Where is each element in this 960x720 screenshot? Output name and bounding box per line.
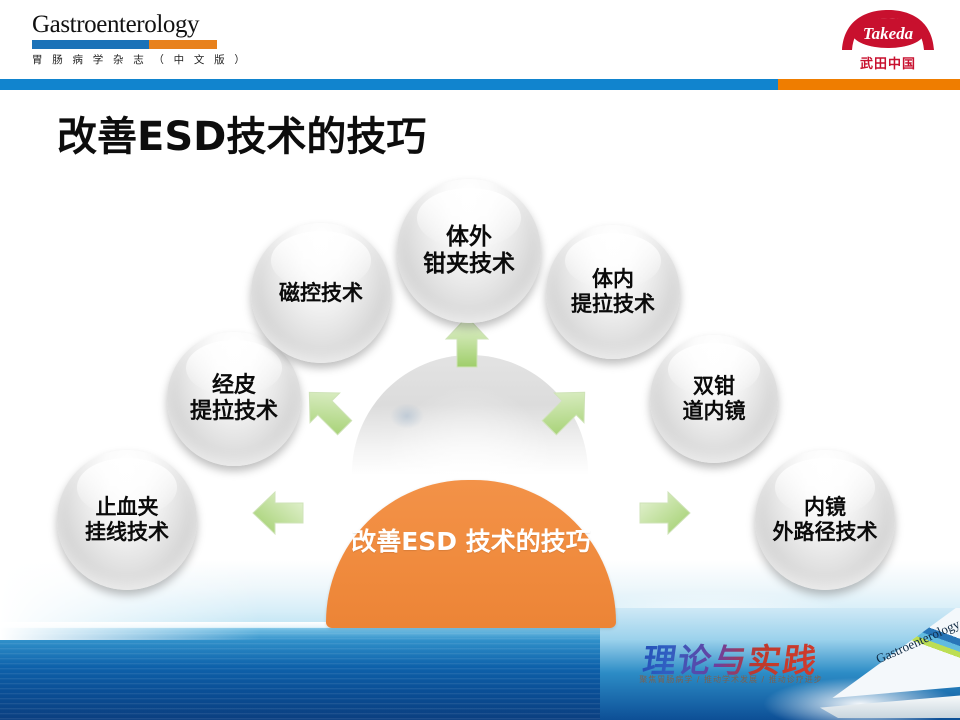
node-ti-wai[interactable]: 体外 钳夹技术 bbox=[397, 179, 541, 323]
footer-banner: Gastroenterology 理论与实践 聚焦胃肠病学 / 推动学术发展 /… bbox=[600, 608, 960, 720]
svg-text:Takeda: Takeda bbox=[863, 24, 914, 43]
node-label: 内镜 外路径技术 bbox=[773, 495, 878, 545]
page-title: 改善ESD技术的技巧 bbox=[57, 104, 426, 162]
banner-tagline: 聚焦胃肠病学 / 推动学术发展 / 推动诊疗进步 bbox=[616, 674, 846, 685]
node-label: 体外 钳夹技术 bbox=[423, 224, 515, 278]
node-shuang-qian-dao[interactable]: 双钳 道内镜 bbox=[650, 335, 778, 463]
node-jing-pi[interactable]: 经皮 提拉技术 bbox=[167, 332, 301, 466]
header-rule-orange bbox=[778, 79, 960, 90]
takeda-cn-label: 武田中国 bbox=[838, 53, 938, 72]
node-label: 经皮 提拉技术 bbox=[190, 373, 278, 425]
node-nei-jing-wai[interactable]: 内镜 外路径技术 bbox=[755, 450, 895, 590]
logo-bar-orange bbox=[149, 40, 217, 49]
journal-logo-bar bbox=[32, 40, 217, 49]
arrow-left-icon bbox=[253, 490, 303, 536]
journal-logo: Gastroenterology 胃 肠 病 学 杂 志 （ 中 文 版 ） bbox=[32, 12, 222, 67]
center-node[interactable]: 改善ESD 技术的技巧 bbox=[326, 480, 616, 628]
slide-header: Gastroenterology 胃 肠 病 学 杂 志 （ 中 文 版 ） T… bbox=[0, 0, 960, 90]
takeda-logo: Takeda 武田中国 bbox=[838, 6, 938, 68]
header-rule bbox=[0, 79, 960, 90]
node-label: 止血夹 挂线技术 bbox=[85, 495, 169, 545]
node-zhi-xue-jia[interactable]: 止血夹 挂线技术 bbox=[57, 450, 197, 590]
header-rule-blue bbox=[0, 79, 778, 90]
node-label: 磁控技术 bbox=[279, 281, 363, 306]
arrow-up-left-icon bbox=[300, 383, 354, 437]
smartart-diagram: 改善ESD 技术的技巧 bbox=[0, 150, 960, 620]
logo-bar-blue bbox=[32, 40, 149, 49]
arrow-right-icon bbox=[640, 490, 690, 536]
node-label: 体内 提拉技术 bbox=[571, 267, 655, 317]
dome-highlight bbox=[390, 403, 424, 429]
node-label: 双钳 道内镜 bbox=[683, 374, 746, 424]
arrow-up-icon bbox=[444, 317, 490, 367]
node-ti-nei[interactable]: 体内 提拉技术 bbox=[546, 225, 680, 359]
takeda-arc-icon: Takeda bbox=[838, 6, 938, 52]
journal-subtitle: 胃 肠 病 学 杂 志 （ 中 文 版 ） bbox=[32, 52, 222, 67]
arrow-up-right-icon bbox=[540, 383, 594, 437]
journal-name: Gastroenterology bbox=[32, 12, 222, 37]
center-node-label: 改善ESD 技术的技巧 bbox=[326, 526, 616, 557]
node-ci-kong[interactable]: 磁控技术 bbox=[251, 223, 391, 363]
slide: Gastroenterology 理论与实践 聚焦胃肠病学 / 推动学术发展 /… bbox=[0, 0, 960, 720]
